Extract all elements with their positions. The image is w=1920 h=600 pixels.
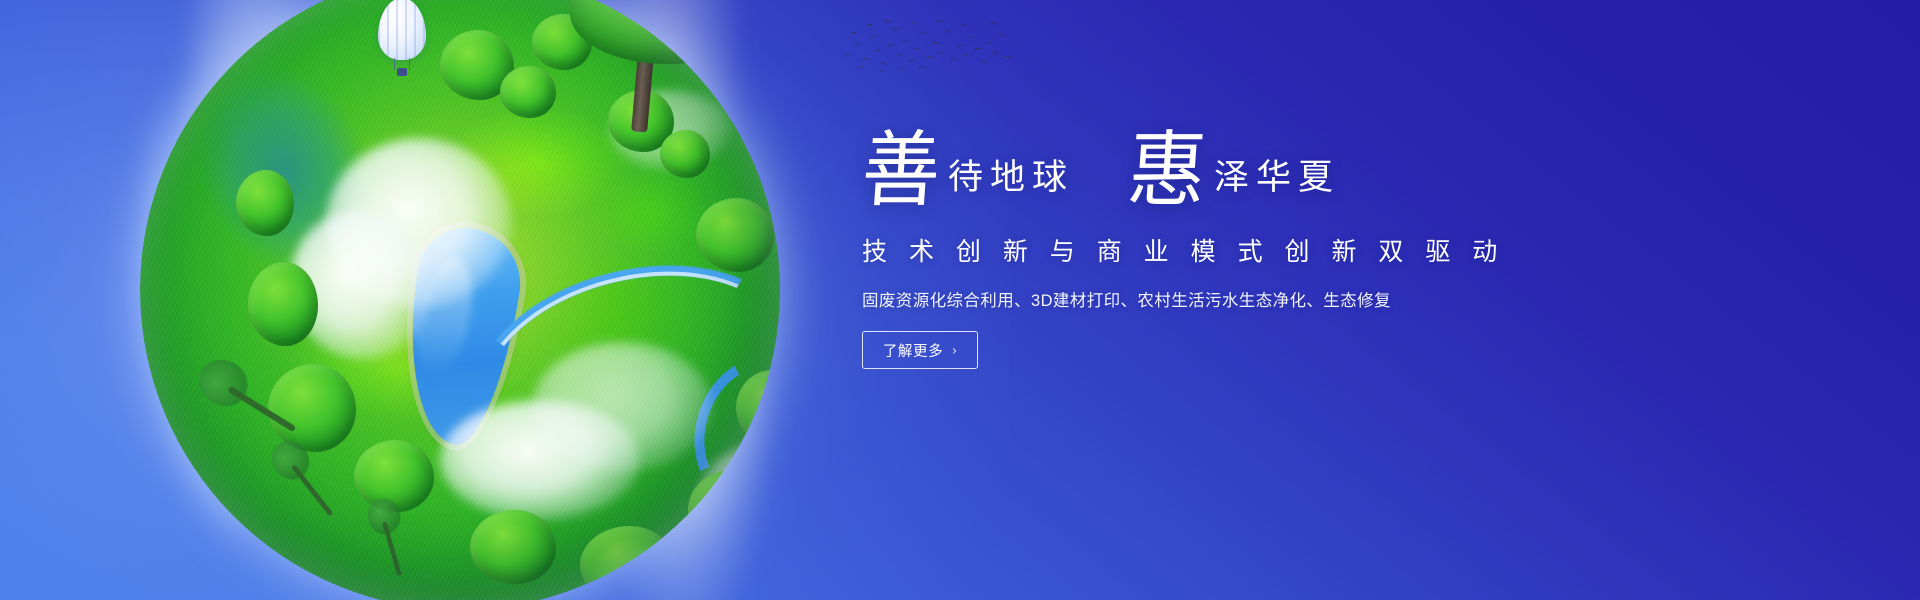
- cloud: [532, 342, 712, 472]
- bird-icon: [920, 31, 928, 37]
- bird-icon: [990, 22, 997, 26]
- bird-icon: [998, 34, 1005, 39]
- bird-icon: [886, 43, 894, 48]
- tree: [696, 198, 774, 272]
- learn-more-button[interactable]: 了解更多 ›: [862, 331, 978, 369]
- bird-icon: [936, 19, 944, 24]
- tree: [236, 170, 294, 236]
- bird-icon: [974, 47, 982, 52]
- bird-icon: [1004, 56, 1011, 60]
- bird-icon: [944, 30, 951, 35]
- headline-rest-zehuaxia: 泽华夏: [1214, 161, 1340, 196]
- bird-icon: [862, 58, 869, 62]
- bird-icon: [938, 51, 946, 56]
- hot-air-balloon-icon: [378, 0, 426, 84]
- bird-icon: [960, 23, 968, 28]
- bird-icon: [910, 22, 917, 27]
- bird-icon: [980, 60, 987, 64]
- bird-icon: [866, 24, 873, 29]
- learn-more-label: 了解更多: [883, 340, 943, 361]
- page-title: 善 待地球 惠 泽华夏: [862, 132, 1562, 210]
- bird-icon: [878, 70, 885, 74]
- bird-icon: [992, 52, 999, 56]
- globe: [140, 0, 780, 600]
- tiny-planet-illustration: [140, 0, 780, 600]
- tree: [660, 130, 710, 178]
- headline-rest-diqiu: 待地球: [948, 161, 1074, 196]
- tree: [354, 440, 434, 512]
- tree: [470, 510, 556, 584]
- bird-icon: [962, 54, 969, 58]
- bird-icon: [986, 42, 994, 47]
- headline-phrase-2: 惠 泽华夏: [1128, 132, 1340, 210]
- description: 固废资源化综合利用、3D建材打印、农村生活污水生态净化、生态修复: [862, 287, 1562, 311]
- hero-banner: 善 待地球 惠 泽华夏 技 术 创 新 与 商 业 模 式 创 新 双 驱 动 …: [0, 0, 1920, 600]
- bird-icon: [844, 54, 851, 58]
- tree: [268, 364, 356, 452]
- large-tree: [570, 0, 760, 134]
- bird-icon: [898, 68, 905, 73]
- chevron-right-icon: ›: [952, 343, 957, 356]
- bird-icon: [858, 66, 865, 71]
- tree: [248, 262, 318, 346]
- headline-phrase-1: 善 待地球: [862, 132, 1074, 210]
- bird-icon: [850, 31, 858, 36]
- tree: [580, 526, 676, 600]
- bird-icon: [914, 48, 921, 53]
- bird-icon: [892, 27, 900, 32]
- bird-icon: [968, 36, 975, 40]
- headline-char-shan: 善: [859, 130, 943, 213]
- subtitle: 技 术 创 新 与 商 业 模 式 创 新 双 驱 动: [862, 232, 1562, 268]
- bird-icon: [918, 65, 926, 70]
- bird-flock: [840, 14, 1010, 70]
- bird-icon: [908, 59, 916, 64]
- hero-content: 善 待地球 惠 泽华夏 技 术 创 新 与 商 业 模 式 创 新 双 驱 动 …: [862, 132, 1562, 369]
- bird-icon: [956, 43, 964, 48]
- bird-icon: [932, 41, 940, 46]
- headline-char-hui: 惠: [1125, 130, 1209, 213]
- bird-icon: [880, 62, 887, 66]
- bird-icon: [884, 20, 891, 24]
- bird-icon: [950, 57, 958, 62]
- tree: [500, 66, 556, 118]
- tree: [688, 470, 772, 550]
- bird-icon: [870, 36, 877, 40]
- bird-icon: [926, 56, 933, 60]
- bird-icon: [854, 43, 862, 48]
- bird-icon: [902, 40, 909, 44]
- bird-icon: [896, 54, 903, 58]
- bird-icon: [874, 50, 881, 55]
